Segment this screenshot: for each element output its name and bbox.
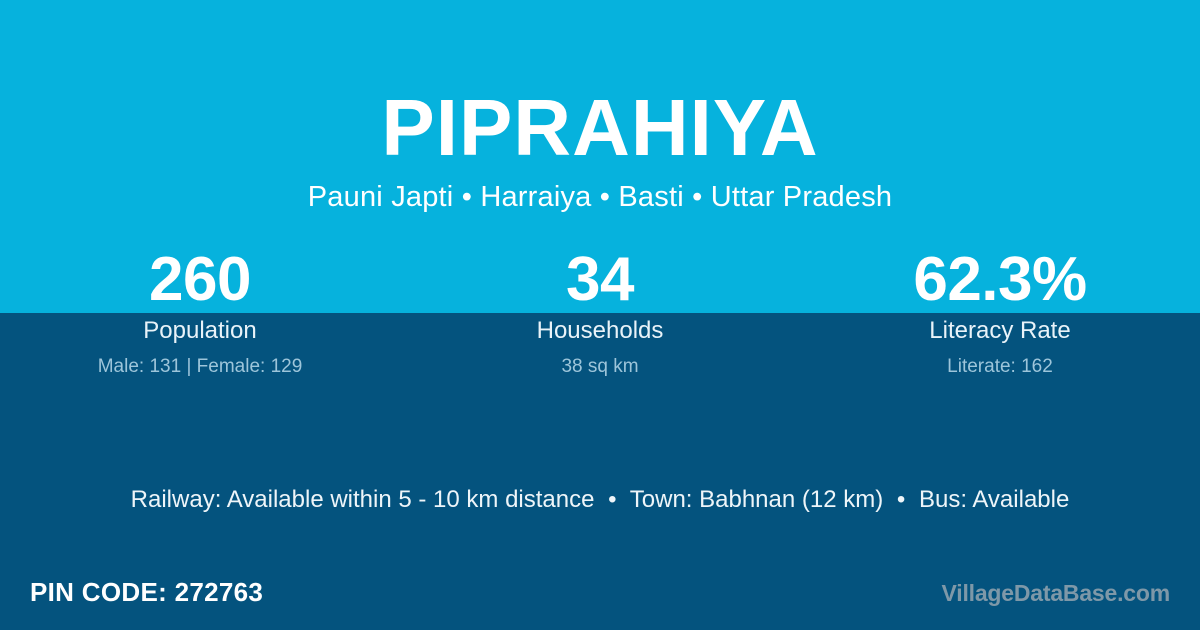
pin-code-text: PIN CODE: 272763 (30, 575, 263, 609)
stat-literacy-rate-label: Literacy Rate (800, 316, 1200, 346)
village-name-title: PIPRAHIYA (0, 88, 1200, 168)
amenity-separator-1: • (601, 486, 623, 513)
amenity-railway: Railway: Available within 5 - 10 km dist… (131, 486, 595, 513)
stat-population-sub: Male: 131 | Female: 129 (0, 355, 400, 379)
village-location-subtitle: Pauni Japti • Harraiya • Basti • Uttar P… (0, 182, 1200, 214)
amenity-separator-2: • (890, 486, 912, 513)
stat-literacy-rate: 62.3% Literacy Rate Literate: 162 (800, 248, 1200, 379)
stat-literacy-rate-sub: Literate: 162 (800, 355, 1200, 379)
stat-literacy-rate-value: 62.3% (800, 248, 1200, 312)
amenities-line: Railway: Available within 5 - 10 km dist… (0, 486, 1200, 514)
card-footer: PIN CODE: 272763 VillageDataBase.com (0, 575, 1200, 617)
amenity-bus: Bus: Available (919, 486, 1069, 513)
stat-households: 34 Households 38 sq km (400, 248, 800, 379)
stat-population-value: 260 (0, 248, 400, 312)
amenity-town: Town: Babhnan (12 km) (630, 486, 883, 513)
stat-households-value: 34 (400, 248, 800, 312)
statistics-row: 260 Population Male: 131 | Female: 129 3… (0, 248, 1200, 379)
stat-households-label: Households (400, 316, 800, 346)
stat-population-label: Population (0, 316, 400, 346)
village-info-card: PIPRAHIYA Pauni Japti • Harraiya • Basti… (0, 0, 1200, 630)
stat-households-sub: 38 sq km (400, 355, 800, 379)
site-watermark: VillageDataBase.com (942, 577, 1170, 609)
stat-population: 260 Population Male: 131 | Female: 129 (0, 248, 400, 379)
